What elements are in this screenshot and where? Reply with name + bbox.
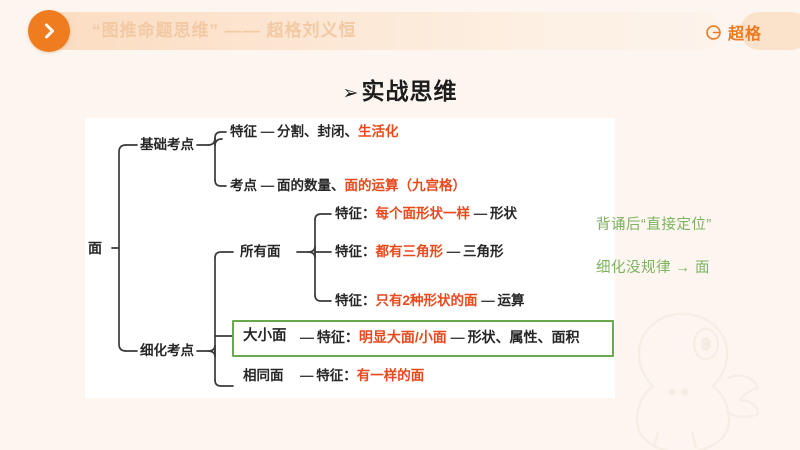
slide-page: “图推命题思维” —— 超格刘义恒 超格 ➢实战思维	[0, 0, 800, 450]
tree-node-jichukaodian: 基础考点	[140, 137, 194, 153]
row-dash-lead: —	[300, 329, 313, 345]
row-result: 运算	[498, 293, 525, 308]
tree-row-tezheng-1: 特征 — 分割、封闭、生活化	[230, 124, 399, 140]
tree-node-root: 面	[88, 240, 102, 256]
row-value-highlight: 生活化	[358, 124, 399, 139]
tree-node-xihuakaodian: 细化考点	[140, 343, 194, 359]
row-key: 特征	[230, 124, 257, 139]
tree-row-xiangtongmian-1: — 特征：有一样的面	[300, 368, 424, 384]
row-highlight: 有一样的面	[357, 368, 425, 383]
row-value-plain: 面的数量、	[277, 178, 345, 193]
row-key: 特征：	[335, 206, 376, 221]
row-value-plain: 分割、封闭、	[277, 124, 358, 139]
tree-node-suoyoumian: 所有面	[240, 244, 281, 260]
row-highlight: 明显大面/小面	[359, 329, 447, 345]
row-highlight: 每个面形状一样	[376, 206, 471, 221]
annotation-line-1: 背诵后“直接定位”	[596, 213, 712, 234]
row-result: 形状	[490, 206, 517, 221]
tree-node-daxiaomian: 大小面	[243, 328, 287, 344]
row-value-highlight: 面的运算（九宫格）	[345, 178, 467, 193]
row-result: 三角形	[463, 244, 504, 259]
tree-row-suoyoumian-3: 特征：只有2种形状的面 — 运算	[335, 293, 525, 309]
tree-row-suoyoumian-1: 特征：每个面形状一样 — 形状	[335, 206, 517, 222]
tree-row-daxiaomian-1: — 特征：明显大面/小面 — 形状、属性、面积	[300, 329, 580, 345]
row-dash: —	[451, 329, 464, 345]
row-highlight: 只有2种形状的面	[376, 293, 478, 308]
row-key: 考点	[230, 178, 257, 193]
row-key: 特征：	[317, 329, 359, 345]
tree-node-xiangtongmian: 相同面	[243, 368, 284, 384]
row-key: 特征：	[335, 293, 376, 308]
row-result: 形状、属性、面积	[468, 329, 580, 345]
tree-row-kaodian: 考点 — 面的数量、面的运算（九宫格）	[230, 178, 466, 194]
row-dash: —	[481, 293, 494, 308]
row-dash: —	[261, 124, 274, 139]
row-dash: —	[447, 244, 460, 259]
row-key: 特征：	[335, 244, 376, 259]
row-dash: —	[474, 206, 487, 221]
tree-row-suoyoumian-2: 特征：都有三角形 — 三角形	[335, 244, 504, 260]
annotation-line-2: 细化没规律 → 面	[596, 256, 710, 277]
row-highlight: 都有三角形	[376, 244, 444, 259]
row-dash: —	[261, 178, 274, 193]
row-dash-lead: —	[300, 368, 313, 383]
row-key: 特征：	[316, 368, 357, 383]
